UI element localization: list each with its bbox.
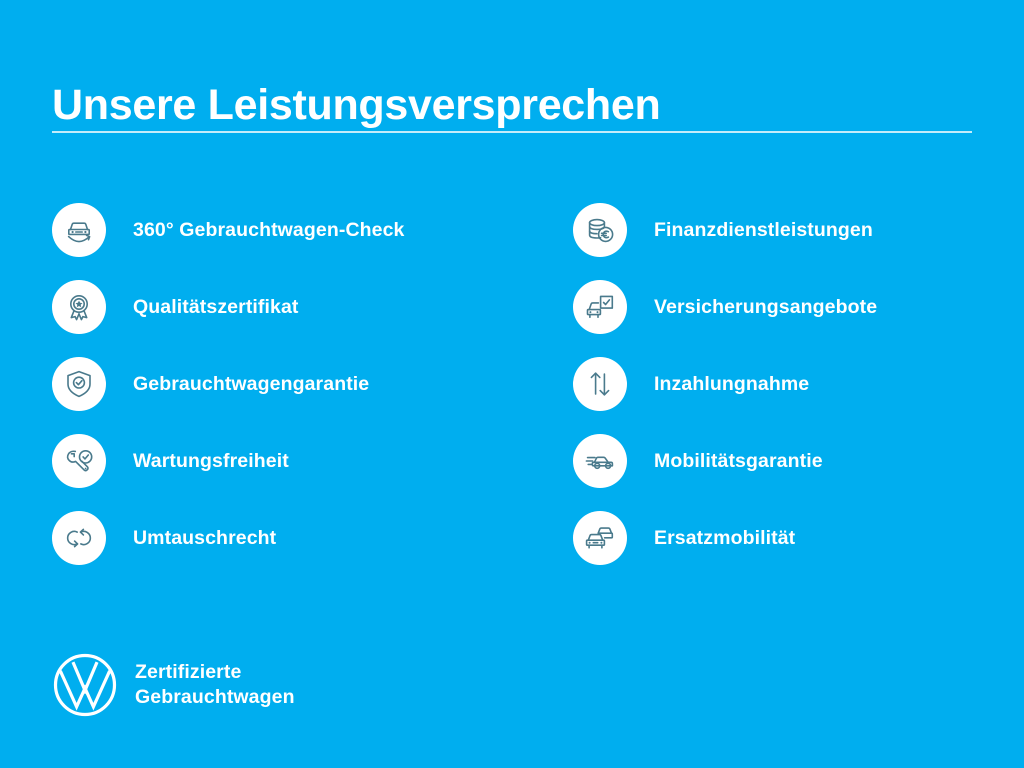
list-item-label: 360° Gebrauchtwagen-Check: [133, 219, 404, 242]
list-item: Umtauschrecht: [52, 511, 522, 565]
exchange-arrows-icon: [52, 511, 106, 565]
brand-lockup: Zertifizierte Gebrauchtwagen: [52, 652, 295, 718]
list-item: Inzahlungnahme: [573, 357, 1003, 411]
list-item-label: Mobilitätsgarantie: [654, 450, 823, 473]
list-item-label: Wartungsfreiheit: [133, 450, 289, 473]
list-item: Wartungsfreiheit: [52, 434, 522, 488]
list-item-label: Versicherungsangebote: [654, 296, 877, 319]
header-divider: [52, 131, 972, 133]
car-360-check-icon: [52, 203, 106, 257]
wrench-check-icon: [52, 434, 106, 488]
shield-check-icon: [52, 357, 106, 411]
list-item-label: Qualitätszertifikat: [133, 296, 299, 319]
promises-column-right: Finanzdienstleistungen Versicheru: [573, 203, 1003, 588]
car-document-check-icon: [573, 280, 627, 334]
list-item-label: Ersatzmobilität: [654, 527, 795, 550]
list-item-label: Gebrauchtwagengarantie: [133, 373, 369, 396]
list-item: Mobilitätsgarantie: [573, 434, 1003, 488]
volkswagen-logo-icon: [52, 652, 118, 718]
slide-root: Unsere Leistungsversprechen 360° G: [0, 0, 1024, 768]
promises-column-left: 360° Gebrauchtwagen-Check Qualitätszerti…: [52, 203, 522, 588]
list-item: 360° Gebrauchtwagen-Check: [52, 203, 522, 257]
brand-text-line2: Gebrauchtwagen: [135, 686, 295, 708]
list-item: Ersatzmobilität: [573, 511, 1003, 565]
list-item: Gebrauchtwagengarantie: [52, 357, 522, 411]
list-item: Qualitätszertifikat: [52, 280, 522, 334]
brand-text: Zertifizierte Gebrauchtwagen: [135, 660, 295, 710]
brand-text-line1: Zertifizierte: [135, 661, 241, 683]
car-speed-icon: [573, 434, 627, 488]
list-item-label: Finanzdienstleistungen: [654, 219, 873, 242]
list-item: Versicherungsangebote: [573, 280, 1003, 334]
list-item: Finanzdienstleistungen: [573, 203, 1003, 257]
page-title: Unsere Leistungsversprechen: [52, 81, 660, 129]
list-item-label: Umtauschrecht: [133, 527, 276, 550]
arrows-up-down-icon: [573, 357, 627, 411]
award-rosette-icon: [52, 280, 106, 334]
coins-euro-icon: [573, 203, 627, 257]
list-item-label: Inzahlungnahme: [654, 373, 809, 396]
two-cars-icon: [573, 511, 627, 565]
